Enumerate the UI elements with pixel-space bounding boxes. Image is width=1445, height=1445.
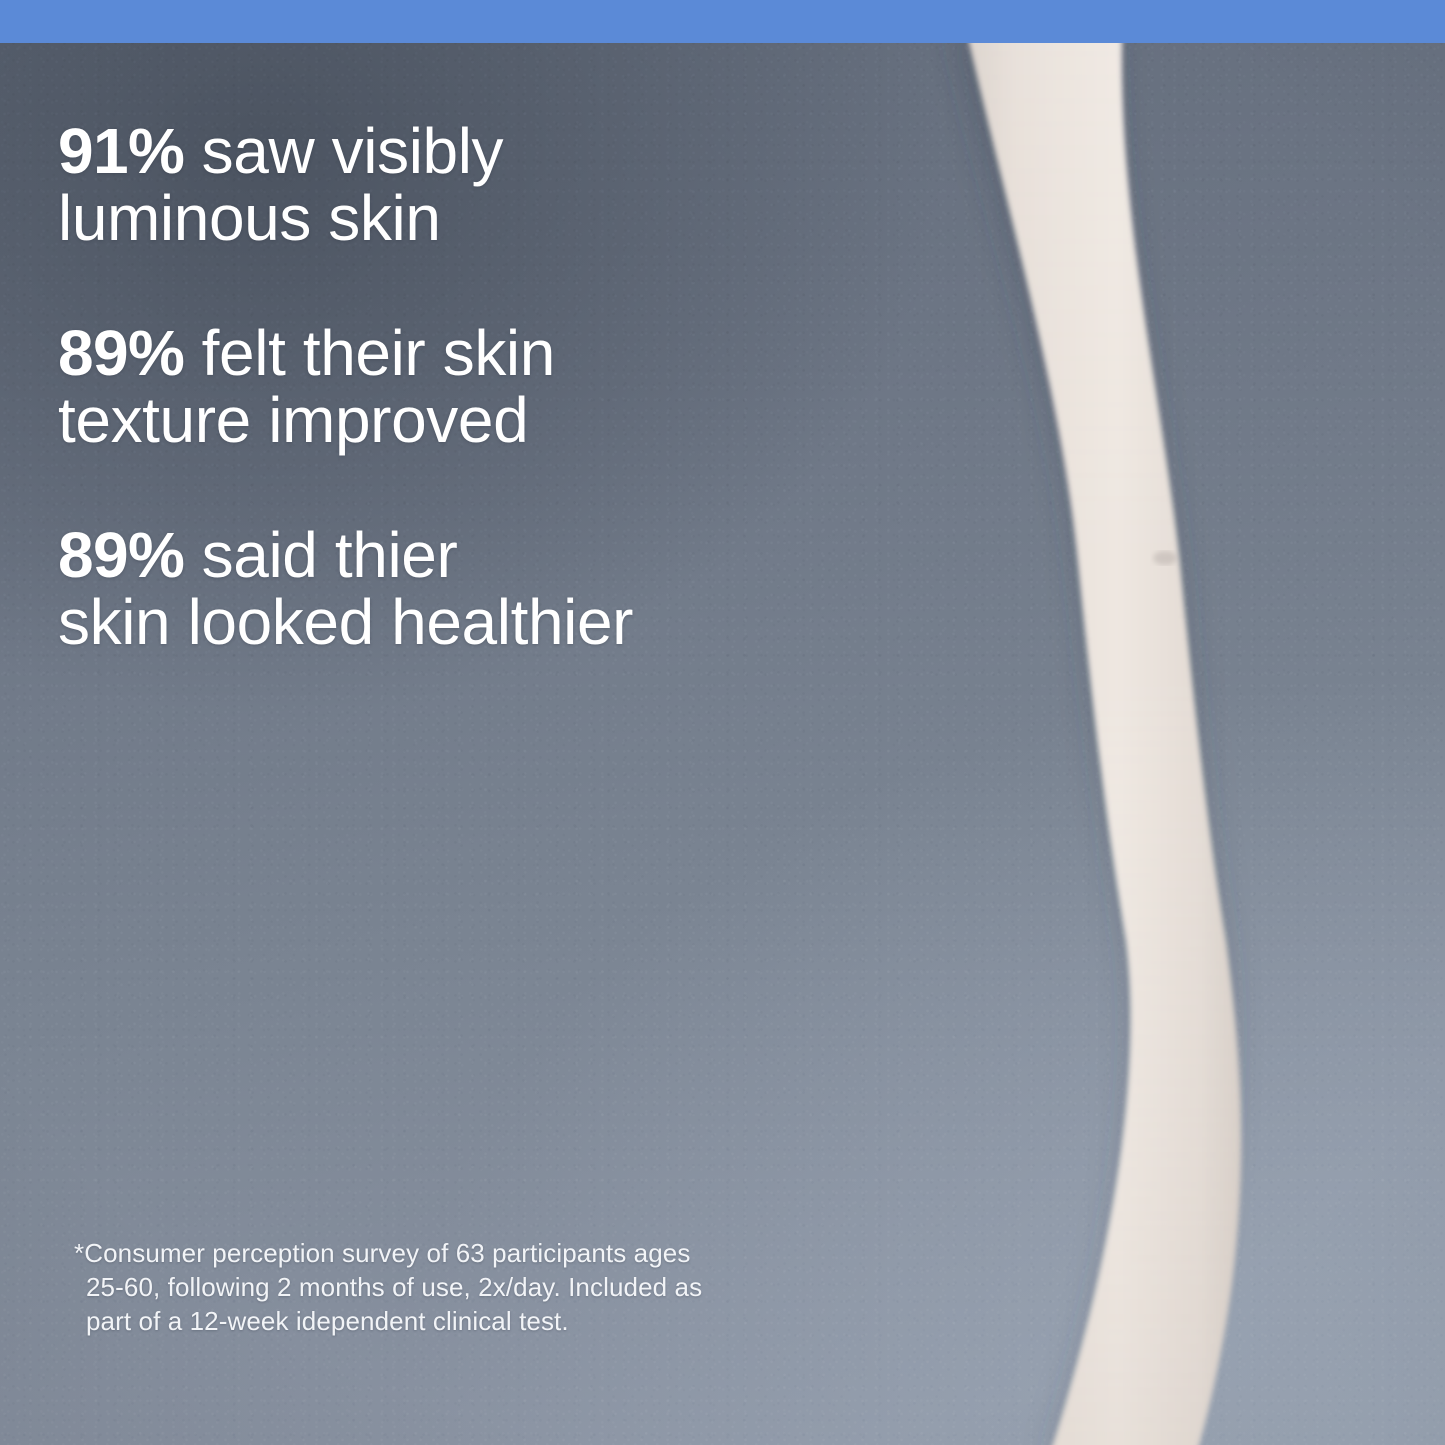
claim-percent-3: 89%: [58, 519, 184, 591]
claim-percent-2: 89%: [58, 317, 184, 389]
promo-image-canvas: 91% saw visibly luminous skin 89% felt t…: [0, 0, 1445, 1445]
claims-list: 91% saw visibly luminous skin 89% felt t…: [58, 118, 778, 656]
claim-item-1: 91% saw visibly luminous skin: [58, 118, 778, 252]
study-footnote: *Consumer perception survey of 63 partic…: [86, 1236, 876, 1338]
claim-percent-1: 91%: [58, 115, 184, 187]
claim-item-3: 89% said thier skin looked healthier: [58, 522, 778, 656]
claim-item-2: 89% felt their skin texture improved: [58, 320, 778, 454]
top-accent-bar: [0, 0, 1445, 43]
